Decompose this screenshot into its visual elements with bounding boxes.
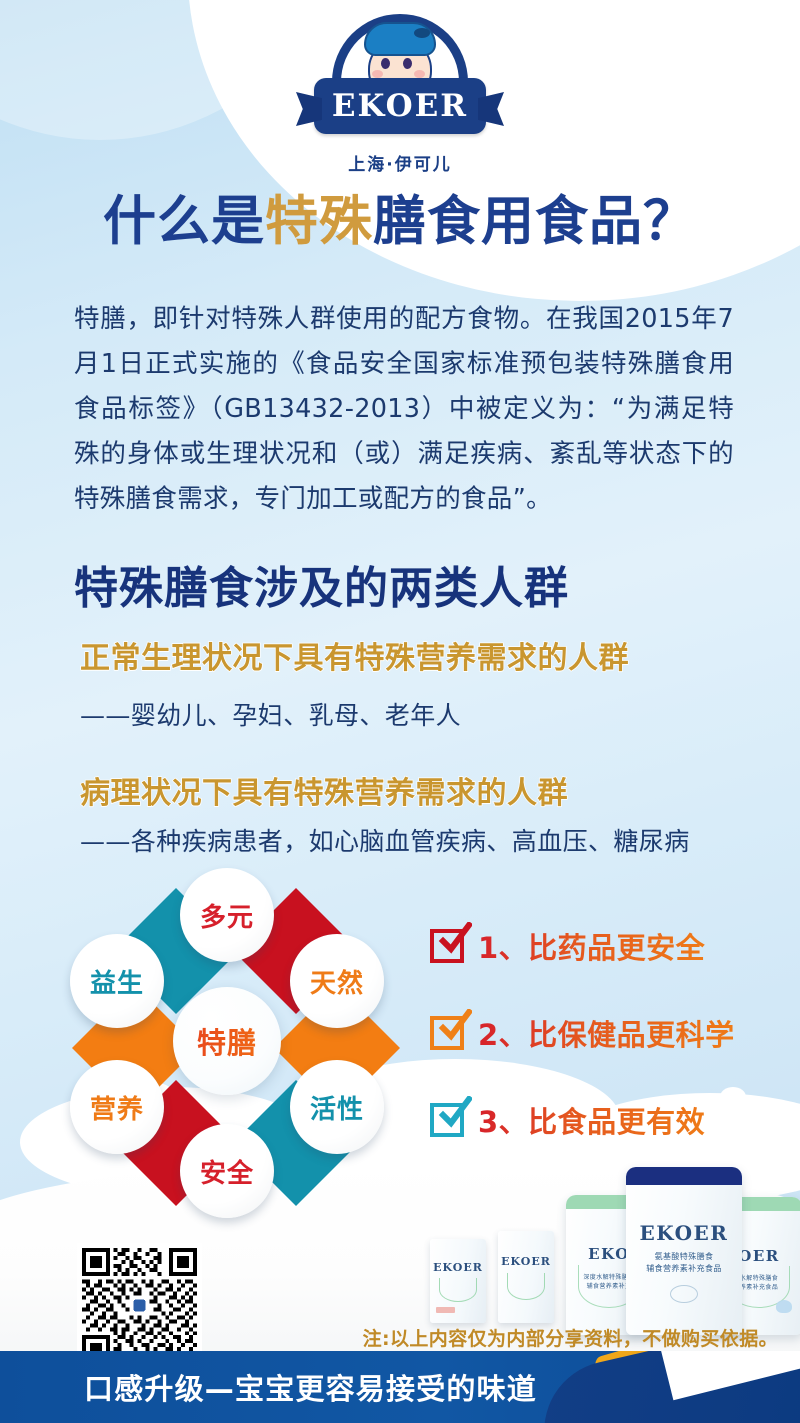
logo-wordmark: EKOER [332,88,468,124]
certification-seal-icon [670,1285,698,1303]
bubble-huoxing[interactable]: 活性 [290,1060,384,1154]
bubble-center-teshan[interactable]: 特膳 [173,987,281,1095]
poster-root: EKOER 上海·伊可儿 什么是特殊膳食用食品？ 特膳，即针对特殊人群使用的配方… [0,0,800,1423]
checklist-label: 3、比食品更有效 [478,1099,705,1141]
product-lineup: EKOER EKOER EKO 深度水解特殊膳食 辅食营养素补充 OER 水解特… [420,1150,800,1335]
bubble-label: 益生 [90,963,144,1000]
bubble-yisheng[interactable]: 益生 [70,934,164,1028]
check-mark-icon [438,1009,472,1043]
bubble-label: 多元 [200,897,254,934]
bubble-center-label: 特膳 [197,1020,257,1062]
group1-detail: ——婴幼儿、孕妇、乳母、老年人 [80,696,461,732]
product-description-line2: 养素补充食品 [740,1284,778,1291]
definition-paragraph: 特膳，即针对特殊人群使用的配方食物。在我国2015年7月1日正式实施的《食品安全… [74,297,734,522]
elephant-mascot-icon [776,1300,792,1313]
product-can-main[interactable]: EKOER 氨基酸特殊膳食 辅食营养素补充食品 [626,1167,742,1335]
checkbox-checked-icon[interactable] [430,1016,464,1050]
bubble-yingyang[interactable]: 营养 [70,1060,164,1154]
product-description-line1: 水解特殊膳食 [740,1275,778,1282]
page-title-highlight: 特殊 [265,191,373,252]
bubble-label: 安全 [200,1153,254,1190]
logo-ribbon-banner: EKOER [314,78,486,134]
benefits-checklist: 1、比药品更安全 2、比保健品更科学 3、比食品更有效 [430,925,760,1186]
product-description-line2: 辅食营养素补充 [587,1283,632,1290]
baby-left-eye [381,58,390,69]
check-mark-icon [438,922,472,956]
product-description: 氨基酸特殊膳食 辅食营养素补充食品 [626,1251,742,1275]
attributes-cluster-diagram: 多元 天然 活性 安全 营养 益生 特膳 [58,862,408,1222]
page-title-part2: 膳食用食品？ [373,191,697,252]
disclaimer-footnote: 注:以上内容仅为内部分享资料，不做购买依据。 [0,1324,800,1351]
logo-badge: EKOER [310,8,490,148]
checklist-item[interactable]: 3、比食品更有效 [430,1099,760,1141]
product-brand-label: EKOER [430,1261,486,1274]
baby-hat-shape [364,22,436,56]
checkbox-checked-icon[interactable] [430,1103,464,1137]
baby-right-eye [403,58,412,69]
bubble-label: 天然 [310,963,364,1000]
checklist-item[interactable]: 2、比保健品更科学 [430,1012,760,1054]
checklist-label: 2、比保健品更科学 [478,1012,735,1054]
group2-title: 病理状况下具有特殊营养需求的人群 [80,768,568,812]
page-title: 什么是特殊膳食用食品？ [0,193,800,250]
section-heading-two-groups: 特殊膳食涉及的两类人群 [74,552,569,616]
heart-outline-icon [439,1278,477,1303]
logo-subtitle: 上海·伊可儿 [348,150,451,175]
page-title-part1: 什么是 [103,191,265,252]
bubble-duoyuan[interactable]: 多元 [180,868,274,962]
bubble-label: 营养 [90,1089,144,1126]
check-mark-icon [438,1096,472,1130]
checklist-item[interactable]: 1、比药品更安全 [430,925,760,967]
bottom-banner: 口感升级—宝宝更容易接受的味道 [0,1351,800,1423]
bubble-tianran[interactable]: 天然 [290,934,384,1028]
group2-detail: ——各种疾病患者，如心脑血管疾病、高血压、糖尿病 [80,822,690,858]
baby-right-cheek [414,70,425,78]
checkbox-checked-icon[interactable] [430,929,464,963]
heart-outline-icon [507,1273,545,1300]
group1-title: 正常生理状况下具有特殊营养需求的人群 [80,633,629,677]
bubble-anquan[interactable]: 安全 [180,1124,274,1218]
checklist-label: 1、比药品更安全 [478,925,705,967]
baby-left-cheek [372,70,383,78]
product-brand-label: EKOER [626,1221,742,1245]
can-lid [626,1167,742,1185]
product-description-line2: 辅食营养素补充食品 [646,1264,722,1273]
product-box-left[interactable]: EKOER [430,1239,486,1323]
product-description-line1: 氨基酸特殊膳食 [655,1252,714,1261]
product-box-right[interactable]: EKOER [498,1231,554,1323]
package-color-tag [436,1307,455,1313]
banner-slogan: 口感升级—宝宝更容易接受的味道 [0,1351,800,1423]
brand-logo: EKOER 上海·伊可儿 [0,8,800,188]
product-brand-label: EKOER [498,1255,554,1268]
bubble-label: 活性 [310,1089,364,1126]
